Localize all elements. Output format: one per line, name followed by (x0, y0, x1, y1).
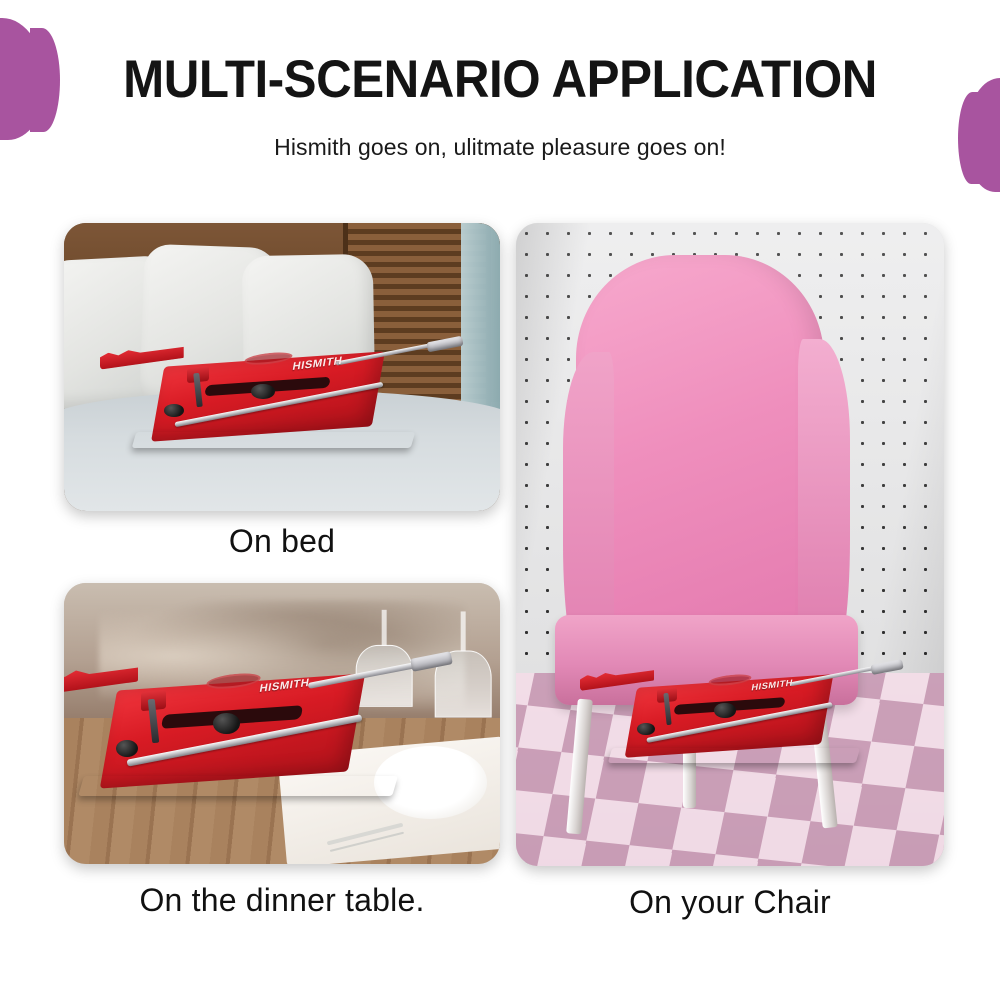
bedroom-scene: HISMITH (64, 223, 500, 511)
machine-knob (637, 723, 654, 735)
scenario-panels: HISMITH On bed (0, 0, 1000, 1000)
photo-on-chair: HISMITH (516, 223, 944, 866)
machine-base-plate (608, 748, 860, 763)
caption-on-chair: On your Chair (516, 884, 944, 921)
machine-base-plate (79, 776, 399, 796)
machine-knob (714, 703, 735, 718)
product-machine: HISMITH (81, 639, 395, 796)
machine-knob (116, 740, 138, 757)
machine-base-plate (131, 432, 415, 448)
machine-knob (213, 713, 240, 733)
photo-on-dinner-table: HISMITH (64, 583, 500, 864)
scenario-card-on-dinner-table[interactable]: HISMITH On the dinner table. (64, 583, 500, 919)
chair-scene: HISMITH (516, 223, 944, 866)
product-machine: HISMITH (610, 651, 858, 764)
machine-knob (251, 384, 275, 400)
scenario-card-on-bed[interactable]: HISMITH On bed (64, 223, 500, 560)
caption-on-bed: On bed (64, 523, 500, 560)
product-machine: HISMITH (134, 327, 413, 448)
photo-on-bed: HISMITH (64, 223, 500, 511)
caption-on-dinner-table: On the dinner table. (64, 882, 500, 919)
scenario-card-on-chair[interactable]: HISMITH On your Chair (516, 223, 944, 921)
dining-room-scene: HISMITH (64, 583, 500, 864)
